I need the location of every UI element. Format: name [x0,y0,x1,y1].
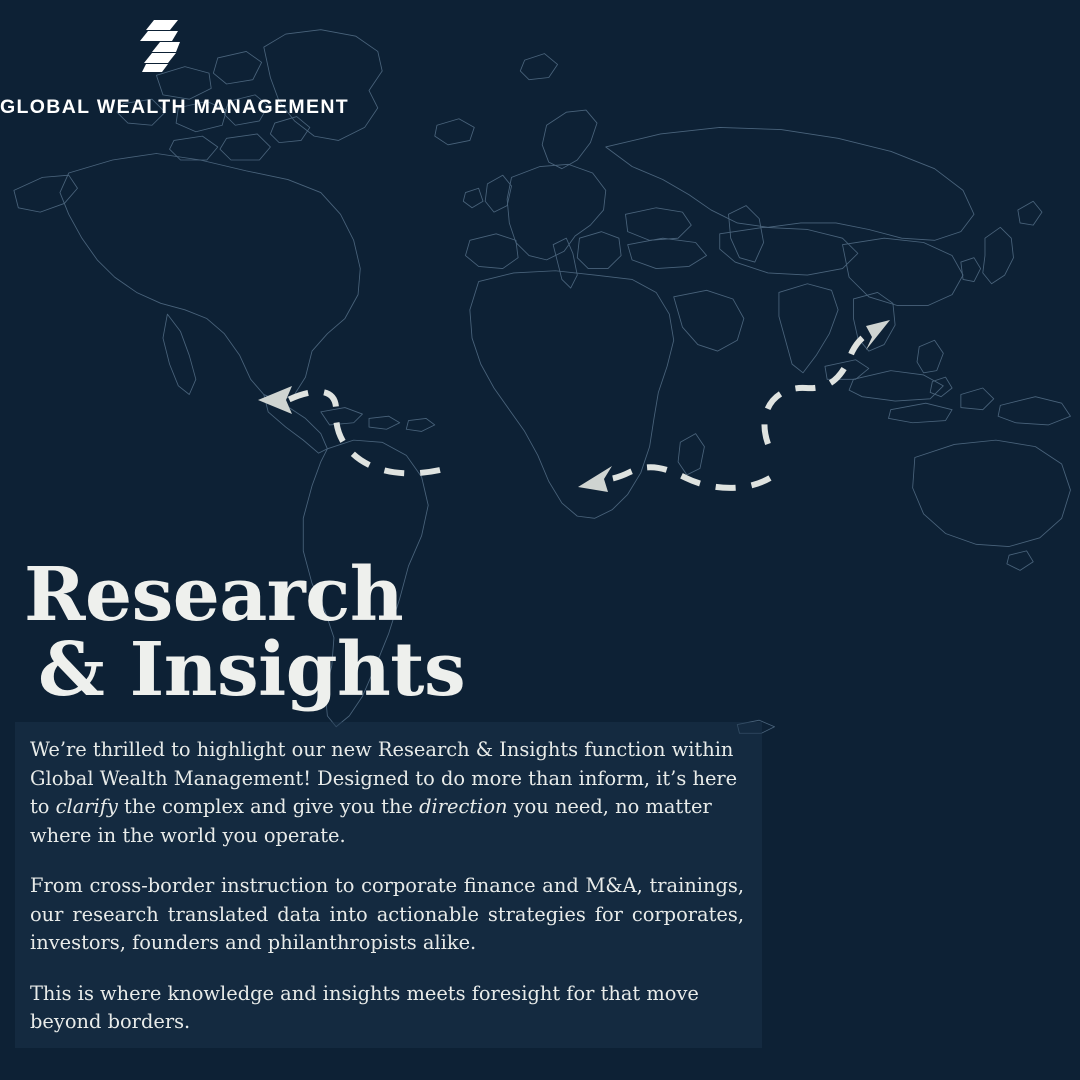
paragraph-1-segment-2: the complex and give you the [118,795,419,818]
poster-canvas: GLOBAL WEALTH MANAGEMENT Research & Insi… [0,0,1080,1080]
brand-wordmark: GLOBAL WEALTH MANAGEMENT [0,96,320,119]
route-arrowhead-west-icon [258,386,292,414]
body-paragraph-2: From cross-border instruction to corpora… [30,872,744,958]
route-central-asia-to-east-asia [764,320,890,444]
route-arrowhead-northeast-icon [866,320,890,350]
paragraph-1-emphasis-clarify: clarify [56,795,118,818]
route-atlantic-to-americas [258,386,440,473]
body-paragraph-3: This is where knowledge and insights mee… [30,980,744,1037]
paragraph-1-emphasis-direction: direction [419,795,507,818]
page-title-line-1: Research [24,558,644,633]
page-title-line-2: & Insights [24,633,644,708]
diagonal-stripes-logo-icon [134,18,186,74]
route-middle-east-to-africa [578,466,770,492]
brand-lockup: GLOBAL WEALTH MANAGEMENT [0,18,320,119]
route-arrowhead-southwest-icon [578,466,612,492]
page-title: Research & Insights [24,558,644,709]
body-paragraph-1: We’re thrilled to highlight our new Rese… [30,736,744,850]
body-copy-panel: We’re thrilled to highlight our new Rese… [15,722,762,1048]
